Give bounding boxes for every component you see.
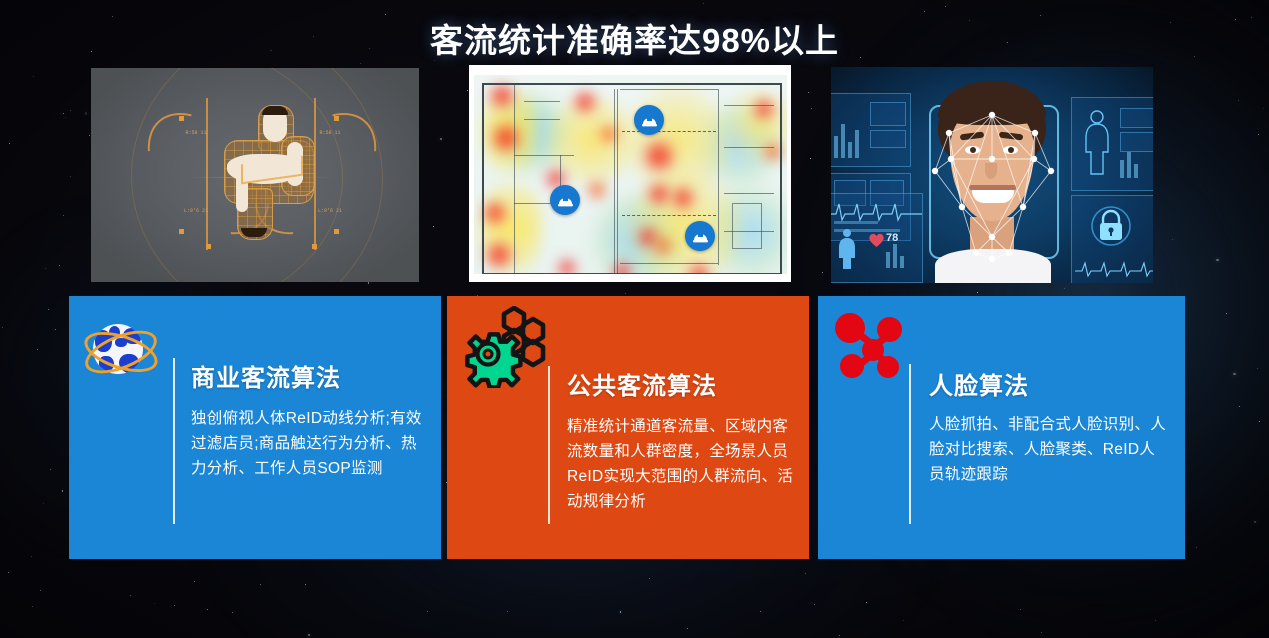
scan-label-right-top: R:58 11 <box>317 131 343 136</box>
card-public-algorithm[interactable]: 公共客流算法 精准统计通道客流量、区域内客流数量和人群密度，全场景人员ReID实… <box>447 296 809 559</box>
camera-icon <box>557 193 574 208</box>
heat-hot-2 <box>490 121 522 155</box>
card-face-algorithm[interactable]: 人脸算法 人脸抓拍、非配合式人脸识别、人脸对比搜索、人脸聚类、ReID人员轨迹跟… <box>818 296 1185 559</box>
scan-tick-left-top <box>179 116 184 121</box>
heat-hot-5 <box>572 89 598 115</box>
image-overhead-body-scan: R:58 11 L:0'6 21 R:58 11 L:0'6 21 <box>91 68 419 282</box>
card-description: 精准统计通道客流量、区域内客流数量和人群密度，全场景人员ReID实现大范围的人群… <box>567 414 799 514</box>
heat-hot-11 <box>670 185 696 211</box>
scan-label-right-bottom: L:0'6 21 <box>317 209 343 214</box>
scan-tick-left-foot <box>206 244 211 249</box>
floorplan-room-7 <box>724 147 774 148</box>
floorplan-stairs <box>732 203 762 249</box>
heat-hot-8 <box>586 179 608 201</box>
mol-node-bottom-right <box>877 356 899 378</box>
globe-orbit-icon <box>87 318 155 386</box>
floorplan-partition-2 <box>614 89 615 274</box>
heat-hot-13 <box>652 235 674 257</box>
floorplan-wall-top <box>482 83 782 85</box>
camera-icon <box>641 113 658 128</box>
floorplan-room-8 <box>724 193 774 194</box>
floorplan-dash-1 <box>622 131 716 132</box>
scan-tick-right-foot <box>312 244 317 249</box>
card-description: 人脸抓拍、非配合式人脸识别、人脸对比搜索、人脸聚类、ReID人员轨迹跟踪 <box>929 412 1167 487</box>
camera-marker-3[interactable] <box>685 221 715 251</box>
gear-honeycomb-svg <box>457 306 555 388</box>
card-title: 公共客流算法 <box>567 366 717 401</box>
image-face-recognition: 78 <box>831 67 1153 283</box>
floorplan-partition-3 <box>620 89 718 90</box>
floorplan-room-6 <box>724 105 774 106</box>
scan-label-left-top: R:58 11 <box>183 131 209 136</box>
card-title: 人脸算法 <box>929 366 1029 401</box>
mol-node-top-right <box>877 317 902 342</box>
slide-stage: 客流统计准确率达98%以上 R:58 11 L:0'6 21 R:58 11 L… <box>0 0 1269 638</box>
heat-hot-9 <box>642 137 676 175</box>
scan-tick-right-bottom <box>334 229 339 234</box>
image-floorplan-heatmap <box>469 65 791 282</box>
card-description: 独创俯视人体ReID动线分析;有效过滤店员;商品触达行为分析、热力分析、工作人员… <box>191 406 431 481</box>
floorplan-partition-4 <box>718 89 719 265</box>
floorplan-wall-right <box>780 83 782 274</box>
card-divider <box>173 358 175 524</box>
card-divider <box>909 364 911 524</box>
card-title: 商业客流算法 <box>191 358 341 393</box>
body-head-top-dark <box>262 106 288 115</box>
heat-hot-17 <box>752 97 776 121</box>
camera-marker-1[interactable] <box>634 105 664 135</box>
scan-label-left-bottom: L:0'6 21 <box>183 209 209 214</box>
heat-hot-14 <box>556 257 578 274</box>
heat-hot-3 <box>482 199 508 227</box>
scan-tick-right-top <box>334 116 339 121</box>
heat-hot-1 <box>488 81 516 111</box>
floorplan-partition-5 <box>620 263 718 264</box>
camera-marker-2[interactable] <box>550 185 580 215</box>
floorplan-partition-2b <box>617 89 618 274</box>
camera-icon <box>692 229 709 244</box>
page-title: 客流统计准确率达98%以上 <box>0 14 1269 62</box>
scan-tick-left-bottom <box>179 229 184 234</box>
face-mesh-overlay <box>831 67 1153 283</box>
heatmap-canvas <box>474 75 787 274</box>
mol-node-bottom-left <box>840 354 864 378</box>
floorplan-wall-bottom <box>482 273 782 274</box>
molecule-nodes-icon <box>830 308 910 388</box>
heat-hot-4 <box>484 239 514 271</box>
gear-honeycomb-icon <box>457 306 555 386</box>
floorplan-dash-2 <box>622 215 716 216</box>
floorplan-room-1 <box>514 155 574 156</box>
mol-node-top-left <box>835 313 865 343</box>
card-business-algorithm[interactable]: 商业客流算法 独创俯视人体ReID动线分析;有效过滤店员;商品触达行为分析、热力… <box>69 296 441 559</box>
floorplan-room-4 <box>524 101 560 102</box>
floorplan-wall-left <box>482 83 484 274</box>
floorplan-partition-1 <box>514 83 515 274</box>
floorplan-room-5 <box>524 119 560 120</box>
heat-hot-10 <box>646 181 672 207</box>
card-divider <box>548 366 550 524</box>
